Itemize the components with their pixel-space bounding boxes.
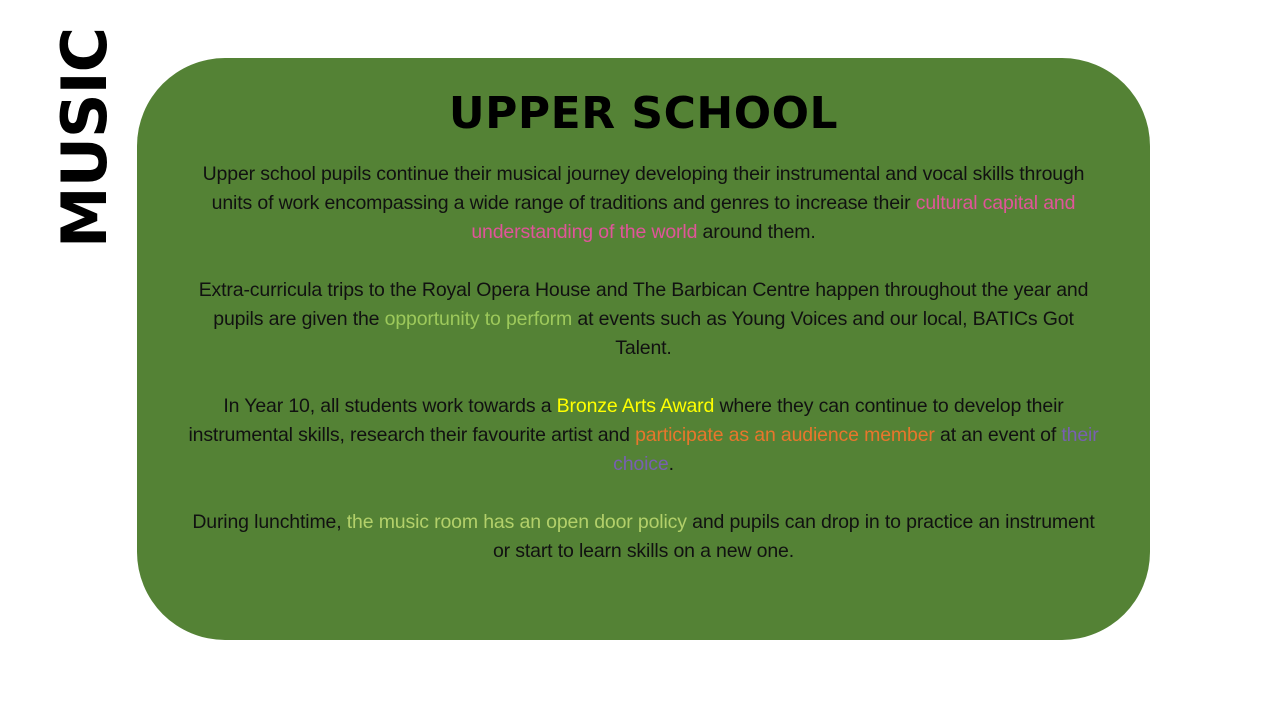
paragraph-3-run-7: . <box>669 453 674 475</box>
paragraph-3: In Year 10, all students work towards a … <box>185 392 1102 479</box>
paragraph-4: During lunchtime, the music room has an … <box>185 508 1102 566</box>
paragraph-2: Extra-curricula trips to the Royal Opera… <box>185 276 1102 363</box>
paragraph-3-highlight-bronze-arts-award: Bronze Arts Award <box>557 395 715 417</box>
side-title-container: MUSIC <box>0 0 140 300</box>
paragraph-1: Upper school pupils continue their music… <box>185 160 1102 247</box>
panel-body: Upper school pupils continue their music… <box>167 160 1120 566</box>
paragraph-3-highlight-participate-audience: participate as an audience member <box>635 424 935 446</box>
paragraph-4-highlight-open-door-policy: the music room has an open door policy <box>347 511 687 533</box>
paragraph-2-highlight-opportunity-to-perform: opportunity to perform <box>385 308 572 330</box>
content-panel: UPPER SCHOOL Upper school pupils continu… <box>137 58 1150 640</box>
paragraph-3-run-5: at an event of <box>935 424 1062 446</box>
subject-side-title: MUSIC <box>54 28 116 248</box>
page-title: UPPER SCHOOL <box>167 90 1120 138</box>
paragraph-4-run-1: During lunchtime, <box>192 511 346 533</box>
paragraph-3-run-1: In Year 10, all students work towards a <box>223 395 556 417</box>
paragraph-1-run-3: around them. <box>697 221 815 243</box>
paragraph-2-run-3: at events such as Young Voices and our l… <box>572 308 1074 359</box>
